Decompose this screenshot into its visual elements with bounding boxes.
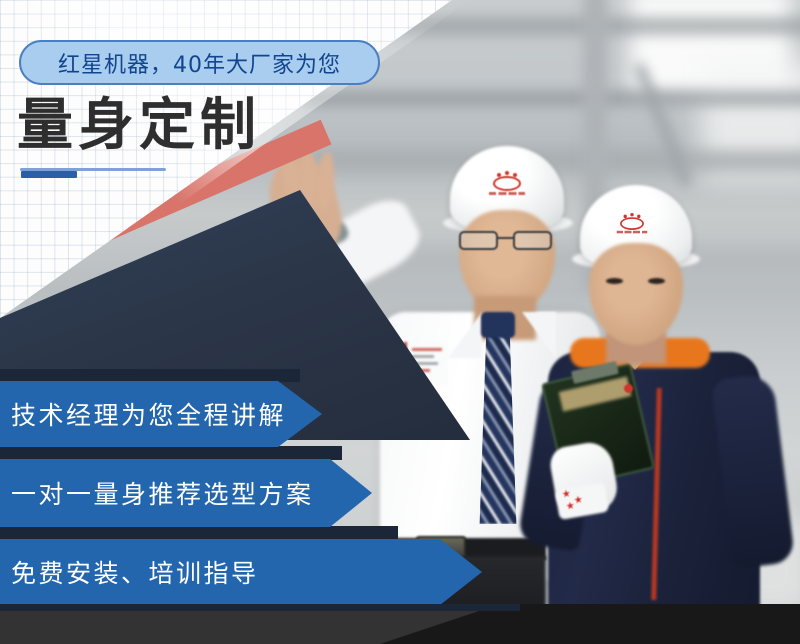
- eyeglasses-bridge: [498, 237, 514, 239]
- tagline-badge-label: 红星机器，40年大厂家为您: [58, 47, 341, 79]
- logo-dot: [505, 171, 509, 175]
- logo-wordmark: [489, 192, 525, 195]
- engineer-collar: [522, 312, 556, 358]
- eyeglasses-lens: [513, 231, 552, 250]
- feature-strip-2-label: 一对一量身推荐选型方案: [0, 475, 314, 511]
- logo-wordmark: [617, 231, 648, 234]
- feature-strip-2: 一对一量身推荐选型方案: [0, 459, 372, 527]
- feature-strip-3-label: 免费安装、培训指导: [0, 554, 259, 590]
- tagline-badge: 红星机器，40年大厂家为您: [19, 40, 380, 85]
- engineer-necktie-knot: [481, 312, 515, 338]
- glove-star-icon: ★: [565, 501, 576, 512]
- page-title: 量身定制: [17, 98, 261, 154]
- feature-strip-3: 免费安装、培训指导: [0, 539, 482, 605]
- eyeglasses-icon: [455, 231, 559, 250]
- promo-banner: ★ ★ ★ 红星机器，40年大厂家为您 量身定制 技术经理为您全程讲解 一对一量…: [0, 0, 800, 644]
- logo-ring: [620, 217, 644, 230]
- technician-eye: [648, 278, 665, 284]
- company-logo-icon: [487, 172, 527, 196]
- logo-dot: [637, 215, 640, 218]
- feature-strip-1-label: 技术经理为您全程讲解: [0, 396, 286, 432]
- bottom-base-accent-line: [0, 604, 520, 611]
- company-logo-icon: [615, 214, 649, 234]
- logo-dot: [630, 213, 633, 216]
- headline-rule-thick: [21, 171, 77, 178]
- clipboard-marker: [624, 384, 633, 393]
- glove-star-icon: ★: [561, 489, 572, 500]
- engineer-collar: [448, 312, 482, 358]
- technician-eye: [606, 278, 623, 284]
- logo-dot: [624, 215, 627, 218]
- ceiling-beam: [300, 92, 800, 105]
- feature-strip-1: 技术经理为您全程讲解: [0, 381, 322, 447]
- strip-separator: [0, 369, 300, 382]
- logo-ring: [493, 176, 521, 191]
- logo-dot: [513, 173, 517, 177]
- strip-separator: [0, 446, 342, 460]
- logo-dot: [497, 173, 501, 177]
- eyeglasses-lens: [459, 231, 498, 250]
- strip-separator: [0, 526, 398, 540]
